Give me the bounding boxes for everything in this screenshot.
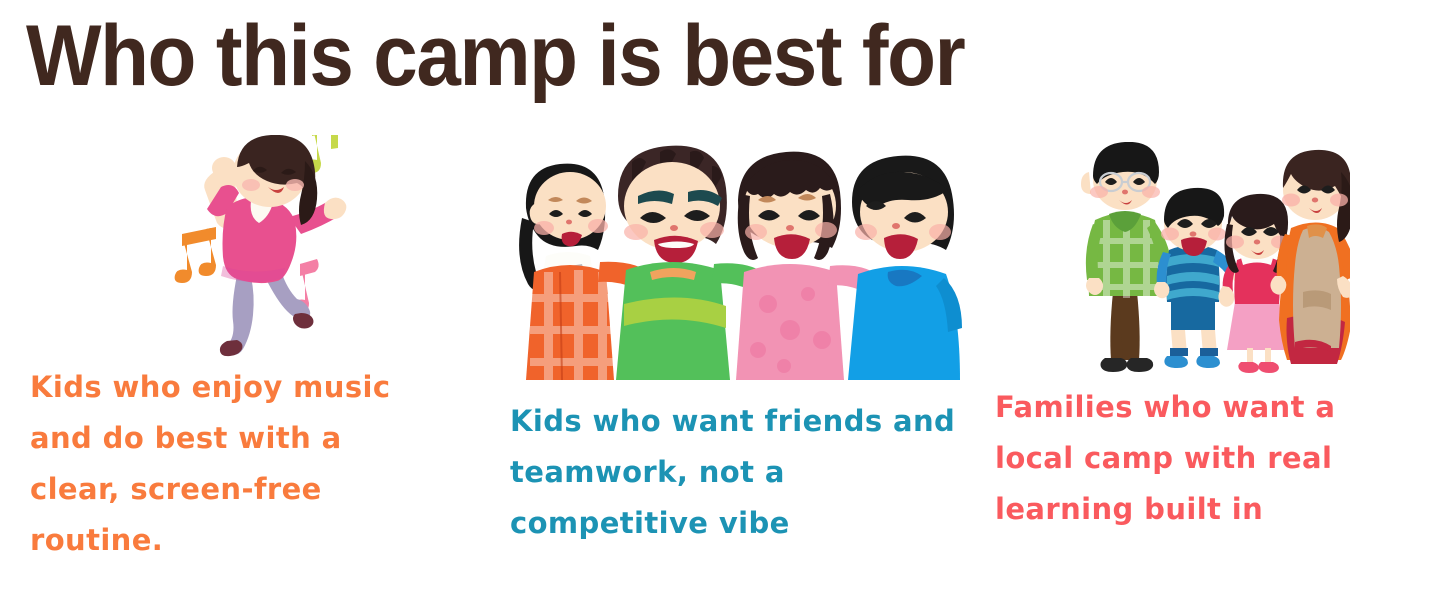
dancing-girl-with-music-notes-illustration — [0, 130, 470, 362]
family-of-four-illustration — [975, 130, 1425, 382]
page-title: Who this camp is best for — [26, 8, 964, 104]
caption-families: Families who want a local camp with real… — [995, 382, 1415, 535]
column-families: Families who want a local camp with real… — [975, 130, 1425, 535]
mother-orange-apron — [1270, 150, 1350, 364]
four-kids-group-illustration — [500, 144, 970, 394]
family-of-four-figures — [1075, 142, 1350, 382]
caption-friendship-kids: Kids who want friends and teamwork, not … — [510, 396, 960, 549]
kid-boy-blue-shirt — [848, 156, 962, 380]
column-friendship-kids: Kids who want friends and teamwork, not … — [480, 130, 980, 549]
dancing-girl-illustration — [165, 135, 355, 360]
slide-root: Who this camp is best for — [0, 0, 1448, 602]
column-music-kids: Kids who enjoy music and do best with a … — [0, 130, 470, 566]
four-kids-arms-around-shoulders-illustration — [480, 130, 980, 396]
music-note-orange — [175, 227, 216, 283]
caption-music-kids: Kids who enjoy music and do best with a … — [30, 362, 440, 566]
